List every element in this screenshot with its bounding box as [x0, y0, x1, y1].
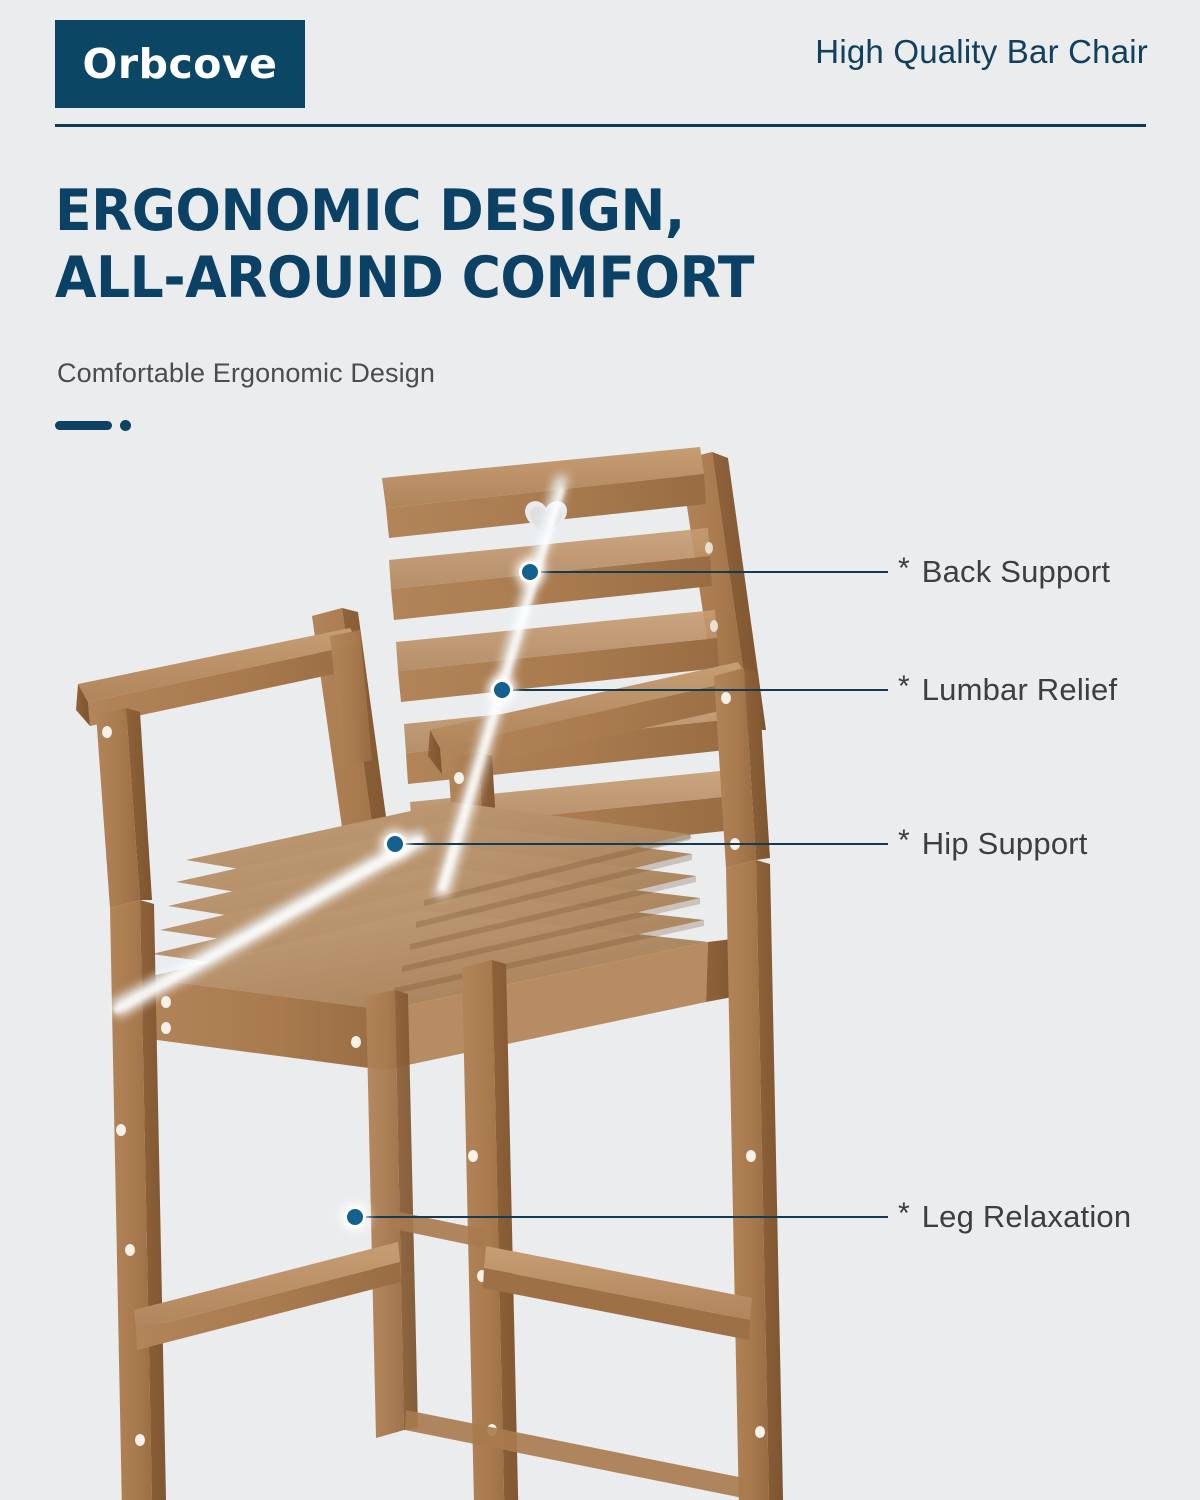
leader-line-1	[530, 571, 888, 573]
brand-logo-text: Orbcove	[83, 40, 278, 88]
headline-line-2: ALL-AROUND COMFORT	[55, 245, 901, 312]
callout-leg-relaxation: * Leg Relaxation	[898, 1197, 1131, 1237]
callout-dot-1[interactable]	[519, 561, 541, 583]
callout-label-2: Lumbar Relief	[922, 672, 1118, 708]
asterisk-icon-1: *	[898, 554, 910, 584]
headline-line-1: ERGONOMIC DESIGN,	[55, 178, 685, 244]
callout-label-4: Leg Relaxation	[922, 1199, 1132, 1235]
callout-dot-3[interactable]	[384, 833, 406, 855]
callout-label-3: Hip Support	[922, 826, 1088, 862]
accent-bar	[55, 421, 112, 430]
header-divider	[55, 124, 1146, 127]
subtitle: Comfortable Ergonomic Design	[57, 358, 435, 389]
callout-dot-2[interactable]	[491, 679, 513, 701]
leader-line-2	[502, 689, 888, 691]
page-title: ERGONOMIC DESIGN, ALL-AROUND COMFORT	[55, 178, 901, 313]
callout-label-1: Back Support	[922, 554, 1111, 590]
leader-line-3	[395, 843, 888, 845]
infographic-page: Orbcove High Quality Bar Chair ERGONOMIC…	[0, 0, 1200, 1500]
asterisk-icon-2: *	[898, 672, 910, 702]
callout-hip-support: * Hip Support	[898, 824, 1088, 864]
header-title: High Quality Bar Chair	[815, 33, 1148, 71]
callout-dot-4[interactable]	[344, 1206, 366, 1228]
callout-lumbar-relief: * Lumbar Relief	[898, 670, 1117, 710]
asterisk-icon-4: *	[898, 1199, 910, 1229]
callout-back-support: * Back Support	[898, 552, 1110, 592]
brand-logo: Orbcove	[55, 20, 305, 108]
leader-line-4	[355, 1216, 888, 1218]
asterisk-icon-3: *	[898, 826, 910, 856]
